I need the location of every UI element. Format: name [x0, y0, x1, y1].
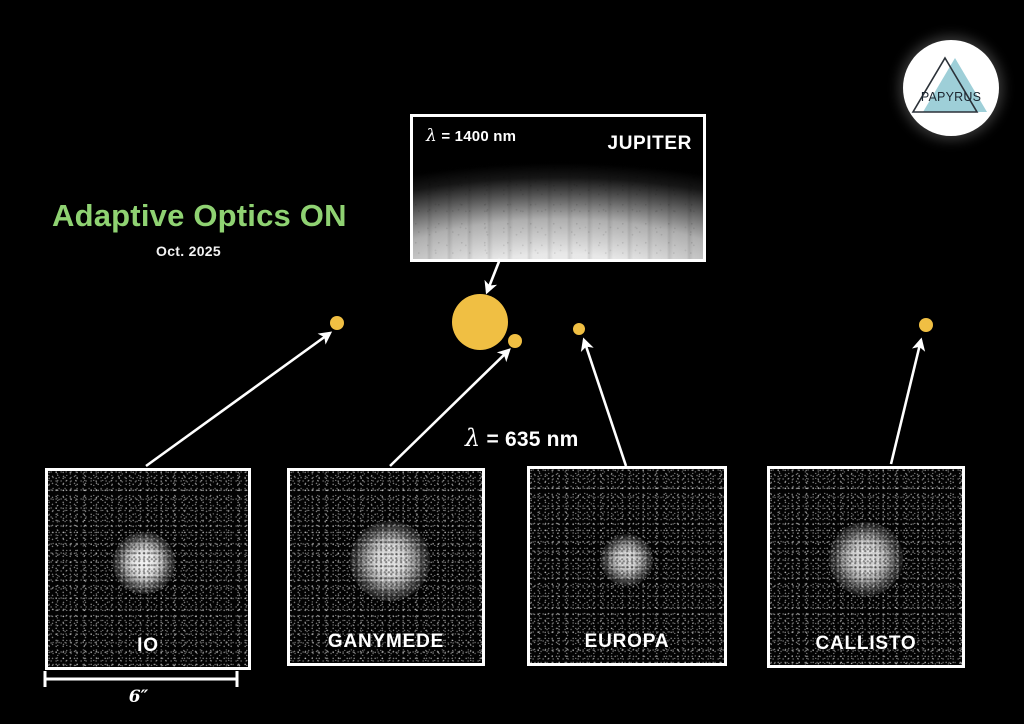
jupiter-panel-title: JUPITER [608, 133, 692, 155]
body-dot-ganymede [508, 334, 522, 348]
body-dot-jupiter [452, 294, 508, 350]
moon-panel-io: IO [45, 468, 251, 670]
moon-panel-ganymede: GANYMEDE [287, 468, 485, 666]
moon-disk-europa [601, 534, 653, 586]
moon-panel-label-callisto: CALLISTO [770, 633, 962, 655]
arrow-callisto-panel-to-dot [891, 340, 921, 464]
lambda-symbol-visible: λ [465, 424, 480, 452]
title-block: Adaptive Optics ON Oct. 2025 [52, 200, 472, 259]
jupiter-wavelength-label: λ = 1400 nm [426, 126, 516, 146]
slide-canvas: Adaptive Optics ON Oct. 2025 PAPYRUS λ =… [0, 0, 1024, 724]
papyrus-logo-text: PAPYRUS [903, 90, 999, 104]
lambda-symbol-ir: λ [426, 126, 437, 146]
body-dot-callisto [919, 318, 933, 332]
moon-disk-ganymede [350, 521, 430, 601]
moon-disk-grain [350, 521, 430, 601]
moon-disk-grain [601, 534, 653, 586]
papyrus-logo: PAPYRUS [903, 40, 999, 136]
moon-disk-callisto [829, 522, 903, 596]
moon-disk-io [113, 532, 175, 594]
arrow-jupiter-panel-to-disk [487, 259, 500, 292]
moon-disk-grain [829, 522, 903, 596]
angular-scale-bar: 6″ [40, 668, 245, 714]
moon-disk-grain [113, 532, 175, 594]
arrow-io-panel-to-dot [146, 333, 330, 466]
visible-wavelength-label: λ = 635 nm [465, 424, 579, 452]
moon-panel-europa: EUROPA [527, 466, 727, 666]
moon-panel-label-europa: EUROPA [530, 631, 724, 653]
visible-wavelength-value: = 635 nm [486, 428, 578, 451]
jupiter-wavelength-value: = 1400 nm [441, 128, 516, 145]
moon-panel-callisto: CALLISTO [767, 466, 965, 668]
papyrus-logo-mark [903, 40, 999, 136]
body-dot-io [330, 316, 344, 330]
moon-panel-label-io: IO [48, 635, 248, 657]
jupiter-inset-panel: λ = 1400 nm JUPITER [410, 114, 706, 262]
arrow-europa-panel-to-dot [584, 340, 626, 466]
page-title: Adaptive Optics ON [52, 200, 472, 233]
moon-panel-label-ganymede: GANYMEDE [290, 631, 482, 653]
scale-bar-label: 6″ [40, 687, 237, 707]
body-dot-europa [573, 323, 585, 335]
